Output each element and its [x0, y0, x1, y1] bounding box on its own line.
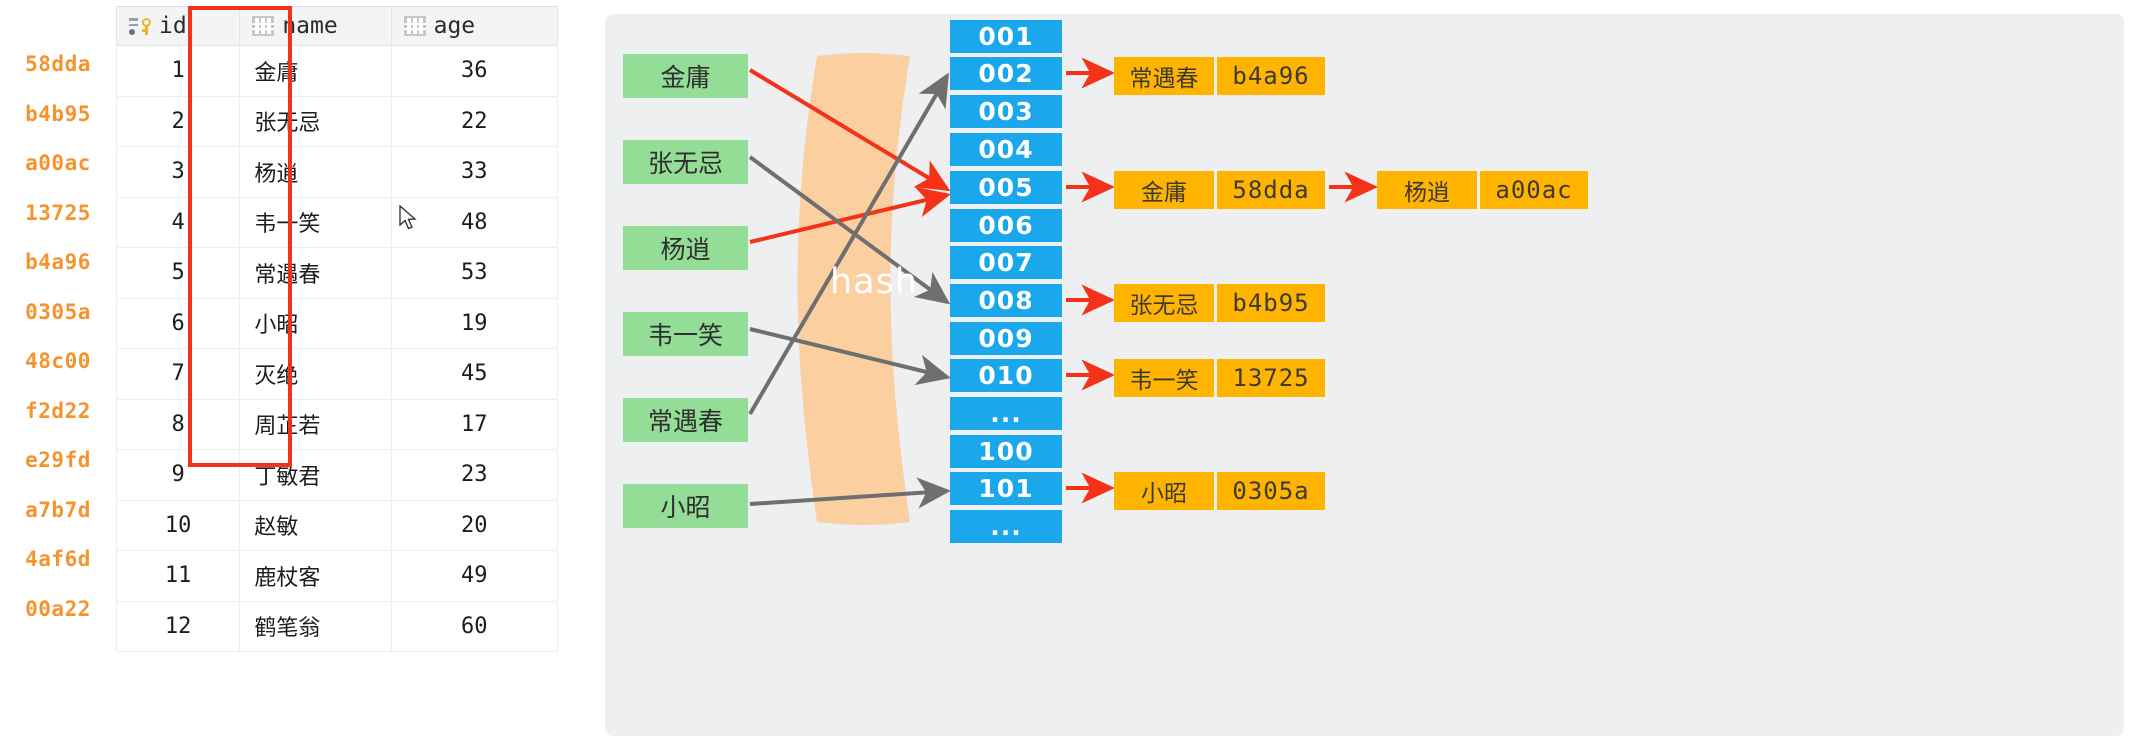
column-header-name-label: name — [282, 13, 337, 39]
table-row[interactable]: 1金庸36 — [117, 46, 558, 97]
hash-value-column: 58ddab4b95a00ac13725b4a960305a48c00f2d22… — [0, 40, 116, 634]
hash-key-box[interactable]: 常遇春 — [623, 398, 748, 442]
cell-id[interactable]: 1 — [117, 46, 240, 97]
column-header-age-label: age — [434, 13, 476, 39]
entry-name-box[interactable]: 小昭 — [1114, 472, 1214, 510]
cell-name[interactable]: 张无忌 — [240, 96, 391, 147]
bucket-slot[interactable]: ... — [950, 397, 1062, 430]
hash-key-box[interactable]: 杨逍 — [623, 226, 748, 270]
row-hash-value: b4a96 — [0, 238, 116, 288]
bucket-slot[interactable]: 100 — [950, 435, 1062, 468]
cell-id[interactable]: 5 — [117, 248, 240, 299]
mouse-cursor — [399, 205, 419, 233]
table-row[interactable]: 10赵敏20 — [117, 500, 558, 551]
entry-name-box[interactable]: 常遇春 — [1114, 57, 1214, 95]
table-row[interactable]: 6小昭19 — [117, 298, 558, 349]
cell-name[interactable]: 灭绝 — [240, 349, 391, 400]
cell-id[interactable]: 4 — [117, 197, 240, 248]
entry-hash-box[interactable]: a00ac — [1480, 171, 1588, 209]
cell-age[interactable]: 19 — [391, 298, 557, 349]
cell-id[interactable]: 11 — [117, 551, 240, 602]
cell-age[interactable]: 20 — [391, 500, 557, 551]
entry-hash-box[interactable]: b4b95 — [1217, 284, 1325, 322]
cell-name[interactable]: 鹤笔翁 — [240, 601, 391, 652]
entry-hash-box[interactable]: 58dda — [1217, 171, 1325, 209]
entry-hash-box[interactable]: b4a96 — [1217, 57, 1325, 95]
row-hash-value: a00ac — [0, 139, 116, 189]
user-table: id name age 1金庸362张无忌223杨逍334韦一笑48 — [116, 6, 558, 652]
column-grid-icon — [404, 16, 426, 36]
cell-id[interactable]: 8 — [117, 399, 240, 450]
entry-hash-box[interactable]: 0305a — [1217, 472, 1325, 510]
table-row[interactable]: 9丁敏君23 — [117, 450, 558, 501]
cell-age[interactable]: 49 — [391, 551, 557, 602]
bucket-slot[interactable]: 008 — [950, 284, 1062, 317]
row-hash-value: 4af6d — [0, 535, 116, 585]
cell-id[interactable]: 2 — [117, 96, 240, 147]
hash-key-box[interactable]: 张无忌 — [623, 140, 748, 184]
bucket-slot[interactable]: 002 — [950, 57, 1062, 90]
table-row[interactable]: 7灭绝45 — [117, 349, 558, 400]
table-body: 1金庸362张无忌223杨逍334韦一笑485常遇春536小昭197灭绝458周… — [117, 46, 558, 652]
cell-age[interactable]: 36 — [391, 46, 557, 97]
bucket-slot[interactable]: 001 — [950, 20, 1062, 53]
entry-name-box[interactable]: 韦一笑 — [1114, 359, 1214, 397]
row-hash-value: a7b7d — [0, 486, 116, 536]
row-hash-value: b4b95 — [0, 90, 116, 140]
cell-age[interactable]: 17 — [391, 399, 557, 450]
bucket-slot[interactable]: 010 — [950, 359, 1062, 392]
cell-age[interactable]: 33 — [391, 147, 557, 198]
bucket-slot[interactable]: 005 — [950, 171, 1062, 204]
entry-name-box[interactable]: 张无忌 — [1114, 284, 1214, 322]
bucket-slot[interactable]: 007 — [950, 246, 1062, 279]
row-hash-value: 58dda — [0, 40, 116, 90]
table-header-row: id name age — [117, 7, 558, 46]
bucket-slot[interactable]: 009 — [950, 322, 1062, 355]
table-row[interactable]: 2张无忌22 — [117, 96, 558, 147]
cell-age[interactable]: 45 — [391, 349, 557, 400]
cell-name[interactable]: 赵敏 — [240, 500, 391, 551]
bucket-slot[interactable]: 006 — [950, 209, 1062, 242]
hash-key-box[interactable]: 小昭 — [623, 484, 748, 528]
bucket-slot[interactable]: 003 — [950, 95, 1062, 128]
cell-name[interactable]: 金庸 — [240, 46, 391, 97]
table-row[interactable]: 3杨逍33 — [117, 147, 558, 198]
cell-id[interactable]: 7 — [117, 349, 240, 400]
cell-name[interactable]: 常遇春 — [240, 248, 391, 299]
cell-name[interactable]: 小昭 — [240, 298, 391, 349]
bucket-slot[interactable]: 004 — [950, 133, 1062, 166]
hash-key-box[interactable]: 金庸 — [623, 54, 748, 98]
table-row[interactable]: 12鹤笔翁60 — [117, 601, 558, 652]
cell-id[interactable]: 9 — [117, 450, 240, 501]
cell-id[interactable]: 12 — [117, 601, 240, 652]
table-row[interactable]: 11鹿杖客49 — [117, 551, 558, 602]
cell-id[interactable]: 10 — [117, 500, 240, 551]
entry-name-box[interactable]: 杨逍 — [1377, 171, 1477, 209]
chain-arrow-layer — [1066, 73, 1374, 488]
column-header-id-label: id — [159, 13, 187, 39]
cell-age[interactable]: 22 — [391, 96, 557, 147]
diagram-connector-layer — [605, 14, 2124, 736]
database-table-region: 58ddab4b95a00ac13725b4a960305a48c00f2d22… — [0, 0, 600, 749]
cell-age[interactable]: 53 — [391, 248, 557, 299]
primary-key-icon — [129, 16, 151, 36]
table-row[interactable]: 8周芷若17 — [117, 399, 558, 450]
column-header-name[interactable]: name — [240, 7, 391, 46]
bucket-slot[interactable]: 101 — [950, 472, 1062, 505]
cell-name[interactable]: 周芷若 — [240, 399, 391, 450]
column-grid-icon — [252, 16, 274, 36]
hash-key-box[interactable]: 韦一笑 — [623, 312, 748, 356]
column-header-age[interactable]: age — [391, 7, 557, 46]
entry-hash-box[interactable]: 13725 — [1217, 359, 1325, 397]
column-header-id[interactable]: id — [117, 7, 240, 46]
cell-id[interactable]: 6 — [117, 298, 240, 349]
table-row[interactable]: 4韦一笑48 — [117, 197, 558, 248]
cell-name[interactable]: 韦一笑 — [240, 197, 391, 248]
cell-name[interactable]: 丁敏君 — [240, 450, 391, 501]
hash-index-diagram-panel: hash 金庸张无忌杨逍韦一笑常遇春小昭 0010020030040050060… — [605, 14, 2124, 736]
table-row[interactable]: 5常遇春53 — [117, 248, 558, 299]
row-hash-value: f2d22 — [0, 387, 116, 437]
cell-age[interactable]: 23 — [391, 450, 557, 501]
cell-name[interactable]: 鹿杖客 — [240, 551, 391, 602]
cell-name[interactable]: 杨逍 — [240, 147, 391, 198]
hash-lens-label: hash — [830, 262, 918, 302]
bucket-slot[interactable]: ... — [950, 510, 1062, 543]
entry-name-box[interactable]: 金庸 — [1114, 171, 1214, 209]
cell-id[interactable]: 3 — [117, 147, 240, 198]
row-hash-value: 13725 — [0, 189, 116, 239]
row-hash-value: e29fd — [0, 436, 116, 486]
row-hash-value: 0305a — [0, 288, 116, 338]
row-hash-value: 48c00 — [0, 337, 116, 387]
row-hash-value: 00a22 — [0, 585, 116, 635]
cell-age[interactable]: 60 — [391, 601, 557, 652]
